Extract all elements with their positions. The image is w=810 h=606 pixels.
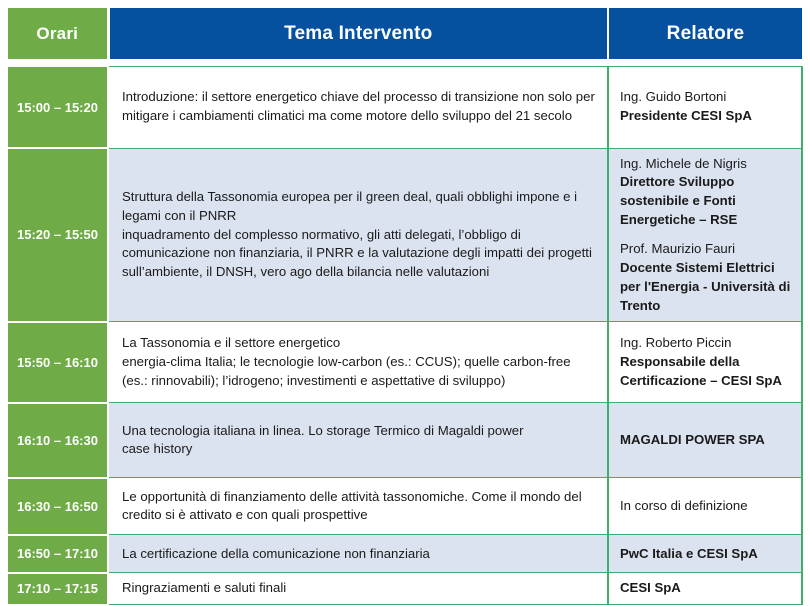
agenda-container: Orari Tema Intervento Relatore 15:00 – 1… <box>0 0 810 572</box>
cell-time: 15:20 – 15:50 <box>8 148 108 322</box>
speaker-line: Ing. Roberto Piccin <box>620 334 793 353</box>
topic-line: energia-clima Italia; le tecnologie low-… <box>122 353 597 390</box>
topic-line: inquadramento del complesso normativo, g… <box>122 226 597 282</box>
gap-cell <box>608 59 802 66</box>
column-header-relatore: Relatore <box>608 8 802 59</box>
cell-topic: Le opportunità di finanziamento delle at… <box>108 478 608 535</box>
cell-speaker: CESI SpA <box>608 573 802 605</box>
speaker-line: Responsabile della Certificazione – CESI… <box>620 353 793 390</box>
header-row: Orari Tema Intervento Relatore <box>8 8 802 59</box>
speaker-line: CESI SpA <box>620 579 793 598</box>
speaker-line: PwC Italia e CESI SpA <box>620 545 793 564</box>
table-row: 16:10 – 16:30Una tecnologia italiana in … <box>8 403 802 478</box>
column-header-tema: Tema Intervento <box>108 8 608 59</box>
topic-line: Una tecnologia italiana in linea. Lo sto… <box>122 422 597 441</box>
table-row: 15:20 – 15:50Struttura della Tassonomia … <box>8 148 802 322</box>
topic-line: Le opportunità di finanziamento delle at… <box>122 488 597 525</box>
cell-speaker: Ing. Roberto PiccinResponsabile della Ce… <box>608 322 802 403</box>
cell-speaker: MAGALDI POWER SPA <box>608 403 802 478</box>
cell-speaker: Ing. Guido BortoniPresidente CESI SpA <box>608 66 802 148</box>
agenda-table-body: 15:00 – 15:20Introduzione: il settore en… <box>8 59 802 605</box>
topic-line: Introduzione: il settore energetico chia… <box>122 88 597 125</box>
cell-time: 17:10 – 17:15 <box>8 573 108 605</box>
speaker-line: Ing. Michele de Nigris <box>620 155 793 174</box>
cell-topic: Struttura della Tassonomia europea per i… <box>108 148 608 322</box>
topic-line: La certificazione della comunicazione no… <box>122 545 597 564</box>
speaker-line: In corso di definizione <box>620 497 793 516</box>
speaker-line: Docente Sistemi Elettrici per l'Energia … <box>620 259 793 315</box>
topic-line: La Tassonomia e il settore energetico <box>122 334 597 353</box>
agenda-table-header: Orari Tema Intervento Relatore <box>8 8 802 59</box>
cell-topic: La Tassonomia e il settore energeticoene… <box>108 322 608 403</box>
cell-speaker: Ing. Michele de NigrisDirettore Sviluppo… <box>608 148 802 322</box>
speaker-line: Direttore Sviluppo sostenibile e Fonti E… <box>620 173 793 229</box>
speaker-line: Ing. Guido Bortoni <box>620 88 793 107</box>
cell-time: 16:30 – 16:50 <box>8 478 108 535</box>
column-header-orari: Orari <box>8 8 108 59</box>
speaker-line: MAGALDI POWER SPA <box>620 431 793 450</box>
table-row: 16:50 – 17:10La certificazione della com… <box>8 535 802 573</box>
cell-speaker: In corso di definizione <box>608 478 802 535</box>
table-row: 17:10 – 17:15Ringraziamenti e saluti fin… <box>8 573 802 605</box>
cell-time: 15:50 – 16:10 <box>8 322 108 403</box>
table-row: 15:00 – 15:20Introduzione: il settore en… <box>8 66 802 148</box>
gap-cell <box>8 59 108 66</box>
agenda-table: Orari Tema Intervento Relatore 15:00 – 1… <box>8 8 803 606</box>
topic-line: Ringraziamenti e saluti finali <box>122 579 597 598</box>
table-row: 16:30 – 16:50Le opportunità di finanziam… <box>8 478 802 535</box>
topic-line: Struttura della Tassonomia europea per i… <box>122 188 597 225</box>
speaker-line: Presidente CESI SpA <box>620 107 793 126</box>
table-row: 15:50 – 16:10La Tassonomia e il settore … <box>8 322 802 403</box>
cell-topic: Ringraziamenti e saluti finali <box>108 573 608 605</box>
cell-speaker: PwC Italia e CESI SpA <box>608 535 802 573</box>
gap-cell <box>108 59 608 66</box>
cell-time: 16:50 – 17:10 <box>8 535 108 573</box>
cell-topic: Una tecnologia italiana in linea. Lo sto… <box>108 403 608 478</box>
cell-topic: Introduzione: il settore energetico chia… <box>108 66 608 148</box>
header-body-gap <box>8 59 802 66</box>
cell-time: 15:00 – 15:20 <box>8 66 108 148</box>
topic-line: case history <box>122 440 597 459</box>
cell-topic: La certificazione della comunicazione no… <box>108 535 608 573</box>
speaker-line-spacer <box>620 229 793 240</box>
speaker-line: Prof. Maurizio Fauri <box>620 240 793 259</box>
cell-time: 16:10 – 16:30 <box>8 403 108 478</box>
